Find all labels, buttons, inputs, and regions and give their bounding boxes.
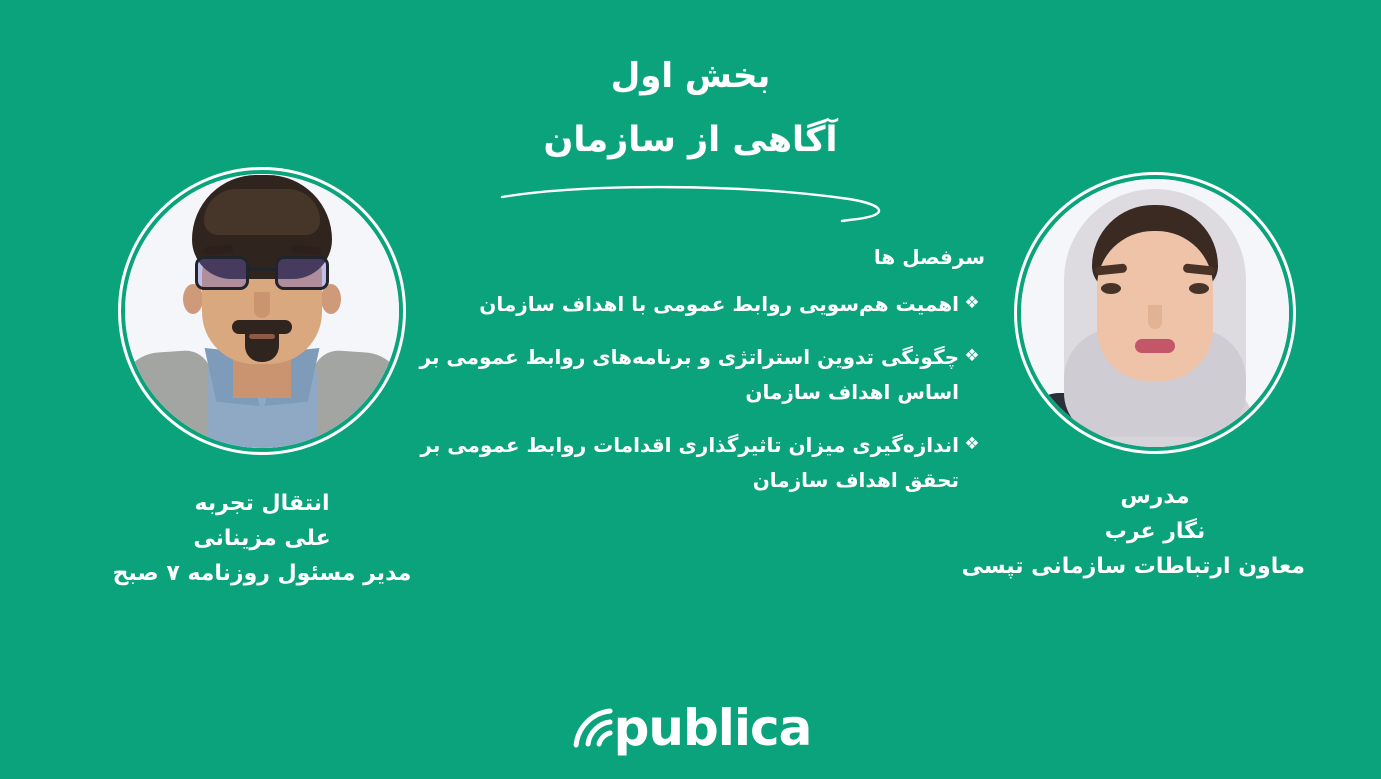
speaker-right: مدرس نگار عرب معاون ارتباطات سازمانی تپس…	[1005, 172, 1305, 584]
speaker-left-caption: انتقال تجربه علی مزینانی مدیر مسئول روزن…	[112, 487, 412, 591]
page-title: آگاهی از سازمان	[0, 115, 1381, 166]
avatar-left	[118, 167, 406, 455]
agenda-item-label: اندازه‌گیری میزان تاثیرگذاری اقدامات روا…	[385, 428, 959, 497]
speaker-left-title: مدیر مسئول روزنامه ۷ صبح	[112, 557, 412, 592]
logo-wordmark: publica	[614, 703, 812, 753]
publica-logo: publica	[570, 703, 812, 753]
part-label: بخش اول	[0, 52, 1381, 101]
diamond-bullet-icon: ❖	[959, 340, 985, 372]
speaker-right-name: نگار عرب	[1005, 515, 1305, 550]
title-block: بخش اول آگاهی از سازمان	[0, 52, 1381, 166]
diamond-bullet-icon: ❖	[959, 428, 985, 460]
swoosh-underline-icon	[494, 178, 914, 238]
agenda-section: سرفصل ها ❖ اهمیت هم‌سویی روابط عمومی با …	[385, 243, 985, 516]
avatar-right	[1014, 172, 1296, 454]
speaker-left-role: انتقال تجربه	[112, 487, 412, 522]
speaker-right-role: مدرس	[1005, 480, 1305, 515]
agenda-item-label: چگونگی تدوین استراتژی و برنامه‌های روابط…	[385, 340, 959, 409]
agenda-list: ❖ اهمیت هم‌سویی روابط عمومی با اهداف ساز…	[385, 287, 985, 497]
webinar-slide: بخش اول آگاهی از سازمان سرفصل ها ❖ اهمیت…	[0, 0, 1381, 779]
speaker-photo-left	[125, 174, 399, 448]
agenda-heading: سرفصل ها	[385, 243, 985, 271]
speaker-left-name: علی مزینانی	[112, 522, 412, 557]
speaker-right-caption: مدرس نگار عرب معاون ارتباطات سازمانی تپس…	[1005, 480, 1305, 584]
diamond-bullet-icon: ❖	[959, 287, 985, 319]
agenda-item-label: اهمیت هم‌سویی روابط عمومی با اهداف سازما…	[385, 287, 959, 321]
agenda-item: ❖ چگونگی تدوین استراتژی و برنامه‌های روا…	[385, 340, 985, 409]
agenda-item: ❖ اندازه‌گیری میزان تاثیرگذاری اقدامات ر…	[385, 428, 985, 497]
speaker-photo-right	[1021, 179, 1289, 447]
signal-waves-icon	[570, 705, 614, 751]
speaker-left: انتقال تجربه علی مزینانی مدیر مسئول روزن…	[112, 167, 412, 591]
agenda-item: ❖ اهمیت هم‌سویی روابط عمومی با اهداف ساز…	[385, 287, 985, 321]
speaker-right-title: معاون ارتباطات سازمانی تپسی	[1005, 550, 1305, 585]
